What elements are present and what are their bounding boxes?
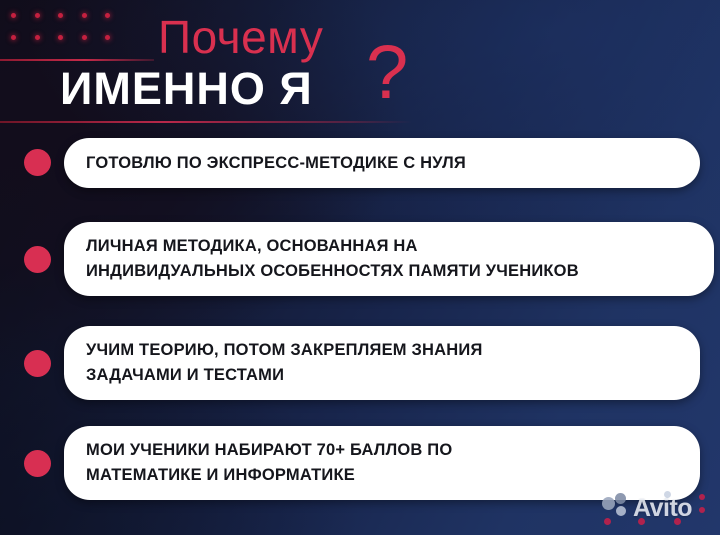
avito-logo-dot-icon: [602, 497, 615, 510]
bullet-dot-icon: [24, 350, 51, 377]
list-item: МОИ УЧЕНИКИ НАБИРАЮТ 70+ БАЛЛОВ ПО МАТЕМ…: [0, 426, 720, 500]
promo-poster: Почему ИМЕННО Я ? ГОТОВЛЮ ПО ЭКСПРЕСС-МЕ…: [0, 0, 720, 535]
benefit-text: УЧИМ ТЕОРИЮ, ПОТОМ ЗАКРЕПЛЯЕМ ЗНАНИЯ ЗАД…: [86, 338, 483, 388]
benefit-card: ЛИЧНАЯ МЕТОДИКА, ОСНОВАННАЯ НА ИНДИВИДУА…: [64, 222, 714, 296]
avito-watermark: Avito: [600, 491, 708, 527]
benefits-list: ГОТОВЛЮ ПО ЭКСПРЕСС-МЕТОДИКЕ С НУЛЯ ЛИЧН…: [0, 138, 720, 500]
bullet-dot-icon: [24, 246, 51, 273]
watermark-accent-dot-icon: [699, 494, 705, 500]
benefit-card: МОИ УЧЕНИКИ НАБИРАЮТ 70+ БАЛЛОВ ПО МАТЕМ…: [64, 426, 700, 500]
list-item: ГОТОВЛЮ ПО ЭКСПРЕСС-МЕТОДИКЕ С НУЛЯ: [0, 138, 720, 188]
avito-logo-dot-icon: [615, 493, 626, 504]
header-rule-long: [0, 121, 412, 123]
avito-logo-dot-icon: [616, 506, 626, 516]
benefit-text: ЛИЧНАЯ МЕТОДИКА, ОСНОВАННАЯ НА ИНДИВИДУА…: [86, 234, 579, 284]
list-item: УЧИМ ТЕОРИЮ, ПОТОМ ЗАКРЕПЛЯЕМ ЗНАНИЯ ЗАД…: [0, 326, 720, 400]
bullet-dot-icon: [24, 450, 51, 477]
headline-primary: Почему: [158, 11, 323, 63]
headline-secondary: ИМЕННО Я: [60, 62, 313, 116]
headline-question-mark: ?: [366, 35, 408, 111]
benefit-card: УЧИМ ТЕОРИЮ, ПОТОМ ЗАКРЕПЛЯЕМ ЗНАНИЯ ЗАД…: [64, 326, 700, 400]
benefit-card: ГОТОВЛЮ ПО ЭКСПРЕСС-МЕТОДИКЕ С НУЛЯ: [64, 138, 700, 188]
watermark-accent-dot-icon: [638, 518, 645, 525]
benefit-text: ГОТОВЛЮ ПО ЭКСПРЕСС-МЕТОДИКЕ С НУЛЯ: [86, 151, 466, 176]
watermark-accent-dot-icon: [604, 518, 611, 525]
watermark-accent-dot-icon: [699, 507, 705, 513]
poster-header: Почему ИМЕННО Я ?: [0, 0, 720, 130]
watermark-accent-dot-icon: [674, 518, 681, 525]
header-rule-short: [0, 59, 154, 61]
bullet-dot-icon: [24, 149, 51, 176]
benefit-text: МОИ УЧЕНИКИ НАБИРАЮТ 70+ БАЛЛОВ ПО МАТЕМ…: [86, 438, 452, 488]
list-item: ЛИЧНАЯ МЕТОДИКА, ОСНОВАННАЯ НА ИНДИВИДУА…: [0, 222, 720, 296]
